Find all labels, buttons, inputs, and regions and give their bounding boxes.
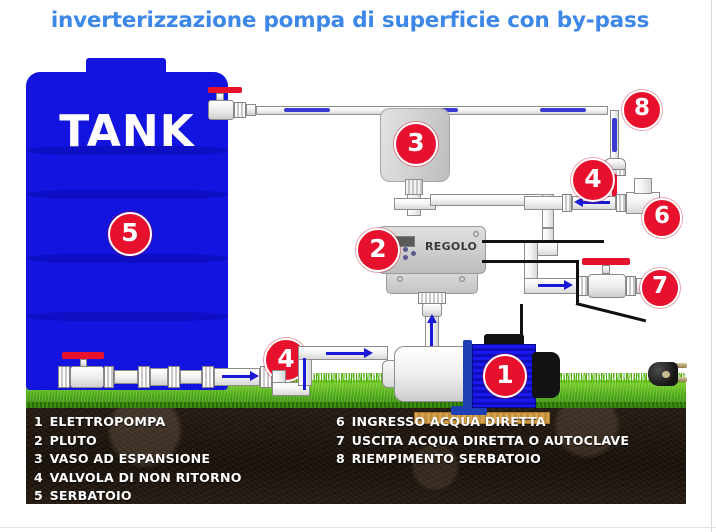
legend-item: 4 VALVOLA DI NON RITORNO [34,469,242,488]
tank-label: TANK [26,106,228,157]
motor-power-cable [520,304,523,338]
badge-6-direct-inlet: 6 [642,198,682,238]
tank-top-coupling [246,104,256,116]
direct-inlet-riser [634,178,652,194]
keypad-icon[interactable] [403,255,408,260]
screw-icon [473,231,479,237]
screw-icon [397,276,403,282]
flow-marker [540,108,586,112]
diagram-stage: TANK 5 8 3 [26,46,686,504]
pump-body [394,346,468,402]
check-valve-left-nut-a [202,366,214,388]
bypass-upper-pipe [524,196,564,210]
tank-ridge [26,190,228,199]
outlet-valve-stem [602,265,610,274]
check-valve-nut-b [616,194,626,212]
badge-8-tank-filling: 8 [622,90,662,130]
badge-1-pump: 1 [483,354,527,398]
legend-item: 7 USCITA ACQUA DIRETTA O AUTOCLAVE [336,432,629,451]
badge-2-controller: 2 [356,228,400,272]
legend-item: 8 RIEMPIMENTO SERBATOIO [336,450,629,469]
outlet-valve-nut-a [578,276,588,296]
badge-3-expansion-vessel: 3 [394,122,438,166]
suction-pipe-b [180,370,202,384]
keypad-icon[interactable] [411,251,416,256]
legend-item: 1 ELETTROPOMPA [34,413,242,432]
tank-top-valve-body[interactable] [208,100,234,120]
badge-7-direct-outlet: 7 [640,268,680,308]
legend-right-column: 6 INGRESSO ACQUA DIRETTA 7 USCITA ACQUA … [336,413,629,469]
frame-border-right [711,0,712,532]
controller-cable-to-plug [576,302,647,322]
plug-earth-hole [662,371,670,378]
legend-item: 5 SERBATOIO [34,487,242,506]
diagram-canvas: inverterizzazione pompa di superficie co… [0,0,716,532]
controller-cable-drop [576,260,579,304]
power-plug [644,358,686,388]
suction-pipe-a [114,370,138,384]
pump-flange [463,340,472,408]
tank-ridge [26,312,228,321]
suction-nut-a [138,366,150,388]
outlet-valve-body[interactable] [588,274,626,298]
legend-item: 3 VASO AD ESPANSIONE [34,450,242,469]
tank-top-valve-nut [234,102,246,118]
badge-4-check-valve-right: 4 [571,158,615,202]
tank-outlet-nut-a [58,366,70,388]
badge-5-tank: 5 [108,212,152,256]
legend-left-column: 1 ELETTROPOMPA 2 PLUTO 3 VASO AD ESPANSI… [34,413,242,506]
suction-coupling [150,368,168,386]
controller-cable-upper [482,240,604,243]
frame-border-bottom [0,527,716,528]
outlet-valve-handle[interactable] [582,258,630,265]
flow-marker [284,108,330,112]
legend-item: 6 INGRESSO ACQUA DIRETTA [336,413,629,432]
flow-marker-vertical [612,118,617,152]
motor-fan-cover [532,352,560,398]
suction-nut-b [168,366,180,388]
keypad-icon[interactable] [403,247,408,252]
screw-icon [459,276,465,282]
controller-cable-lower [482,260,578,263]
controller-brand-label: REGOLO [425,240,477,253]
tank-outlet-nut-b [104,366,114,388]
tank-outlet-valve-body[interactable] [70,366,104,388]
check-valve-nut-a [562,194,572,212]
tank-top-valve-handle[interactable] [208,87,242,93]
expansion-vessel-neck [405,179,423,195]
page-title: inverterizzazione pompa di superficie co… [0,8,700,33]
outlet-valve-nut-b [626,276,636,296]
legend-item: 2 PLUTO [34,432,242,451]
tank-outlet-valve-handle[interactable] [62,352,104,359]
